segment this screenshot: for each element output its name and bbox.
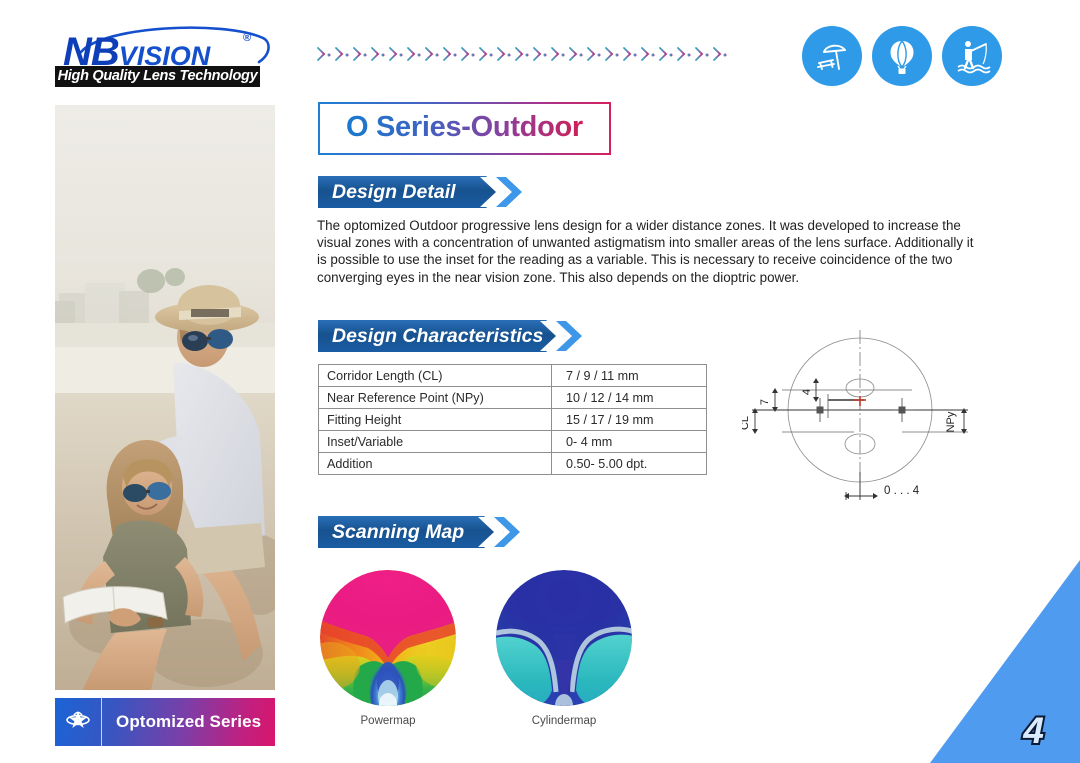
spec-value: 0- 4 mm <box>552 431 707 453</box>
left-sidebar: NBVISION ® High Quality Lens Technology <box>55 20 275 730</box>
section-heading-design-characteristics: Design Characteristics <box>318 325 551 348</box>
table-row: Near Reference Point (NPy) 10 / 12 / 14 … <box>319 387 707 409</box>
spec-label: Fitting Height <box>319 409 552 431</box>
section-heading-scanning-map: Scanning Map <box>318 521 472 544</box>
spec-label: Corridor Length (CL) <box>319 365 552 387</box>
brand-logo: NBVISION ® High Quality Lens Technology <box>55 20 275 90</box>
spec-value: 10 / 12 / 14 mm <box>552 387 707 409</box>
spec-label: Near Reference Point (NPy) <box>319 387 552 409</box>
spec-table-body: Corridor Length (CL) 7 / 9 / 11 mm Near … <box>319 365 707 475</box>
hot-air-balloon-icon <box>872 26 932 86</box>
beach-couple-photo <box>55 105 275 690</box>
scanning-maps-group: Powermap <box>318 570 658 735</box>
section-heading-design-detail: Design Detail <box>318 181 464 204</box>
section-banner-design-detail: Design Detail <box>318 176 464 208</box>
beach-umbrella-icon <box>802 26 862 86</box>
powermap-container: Powermap <box>320 570 456 727</box>
spec-label: Inset/Variable <box>319 431 552 453</box>
page-title: O Series-Outdoor <box>346 111 583 144</box>
section-banner-scanning-map: Scanning Map <box>318 516 472 548</box>
spec-value: 15 / 17 / 19 mm <box>552 409 707 431</box>
dim-label-inset-range: 0 . . . 4 <box>884 485 920 497</box>
cylindermap-caption: Cylindermap <box>496 715 632 727</box>
registered-mark: ® <box>243 32 251 44</box>
brand-tagline: High Quality Lens Technology <box>55 66 260 87</box>
powermap-disc <box>320 570 456 706</box>
dim-label-corridor: 7 <box>759 399 771 405</box>
design-detail-paragraph: The optomized Outdoor progressive lens d… <box>317 217 979 286</box>
cylindermap-disc <box>496 570 632 706</box>
series-banner: Optomized Series <box>55 698 275 746</box>
powermap-caption: Powermap <box>320 715 456 727</box>
table-row: Fitting Height 15 / 17 / 19 mm <box>319 409 707 431</box>
page-title-pill: O Series-Outdoor <box>318 102 611 155</box>
spec-value: 7 / 9 / 11 mm <box>552 365 707 387</box>
page-number: 4 <box>1023 712 1044 749</box>
series-banner-label: Optomized Series <box>102 712 261 732</box>
crown-star-icon <box>55 698 102 746</box>
activity-icons-group <box>802 26 1002 86</box>
dim-label-inset: 4 <box>801 389 813 395</box>
spec-label: Addition <box>319 453 552 475</box>
fishing-icon <box>942 26 1002 86</box>
page-corner-decoration: 4 <box>930 560 1080 763</box>
table-row: Addition 0.50- 5.00 dpt. <box>319 453 707 475</box>
spec-value: 0.50- 5.00 dpt. <box>552 453 707 475</box>
chevron-decoration-strip <box>316 44 736 64</box>
dim-label-NPy: NPy <box>945 411 957 432</box>
table-row: Corridor Length (CL) 7 / 9 / 11 mm <box>319 365 707 387</box>
dim-label-CL: CL <box>742 416 751 430</box>
section-banner-design-characteristics: Design Characteristics <box>318 320 551 352</box>
cylindermap-container: Cylindermap <box>496 570 632 727</box>
design-characteristics-table: Corridor Length (CL) 7 / 9 / 11 mm Near … <box>318 364 707 475</box>
table-row: Inset/Variable 0- 4 mm <box>319 431 707 453</box>
lens-dimension-diagram: 7 CL 4 NPy 0 . . . 4 <box>742 322 982 508</box>
page-corner-triangle <box>930 560 1080 763</box>
